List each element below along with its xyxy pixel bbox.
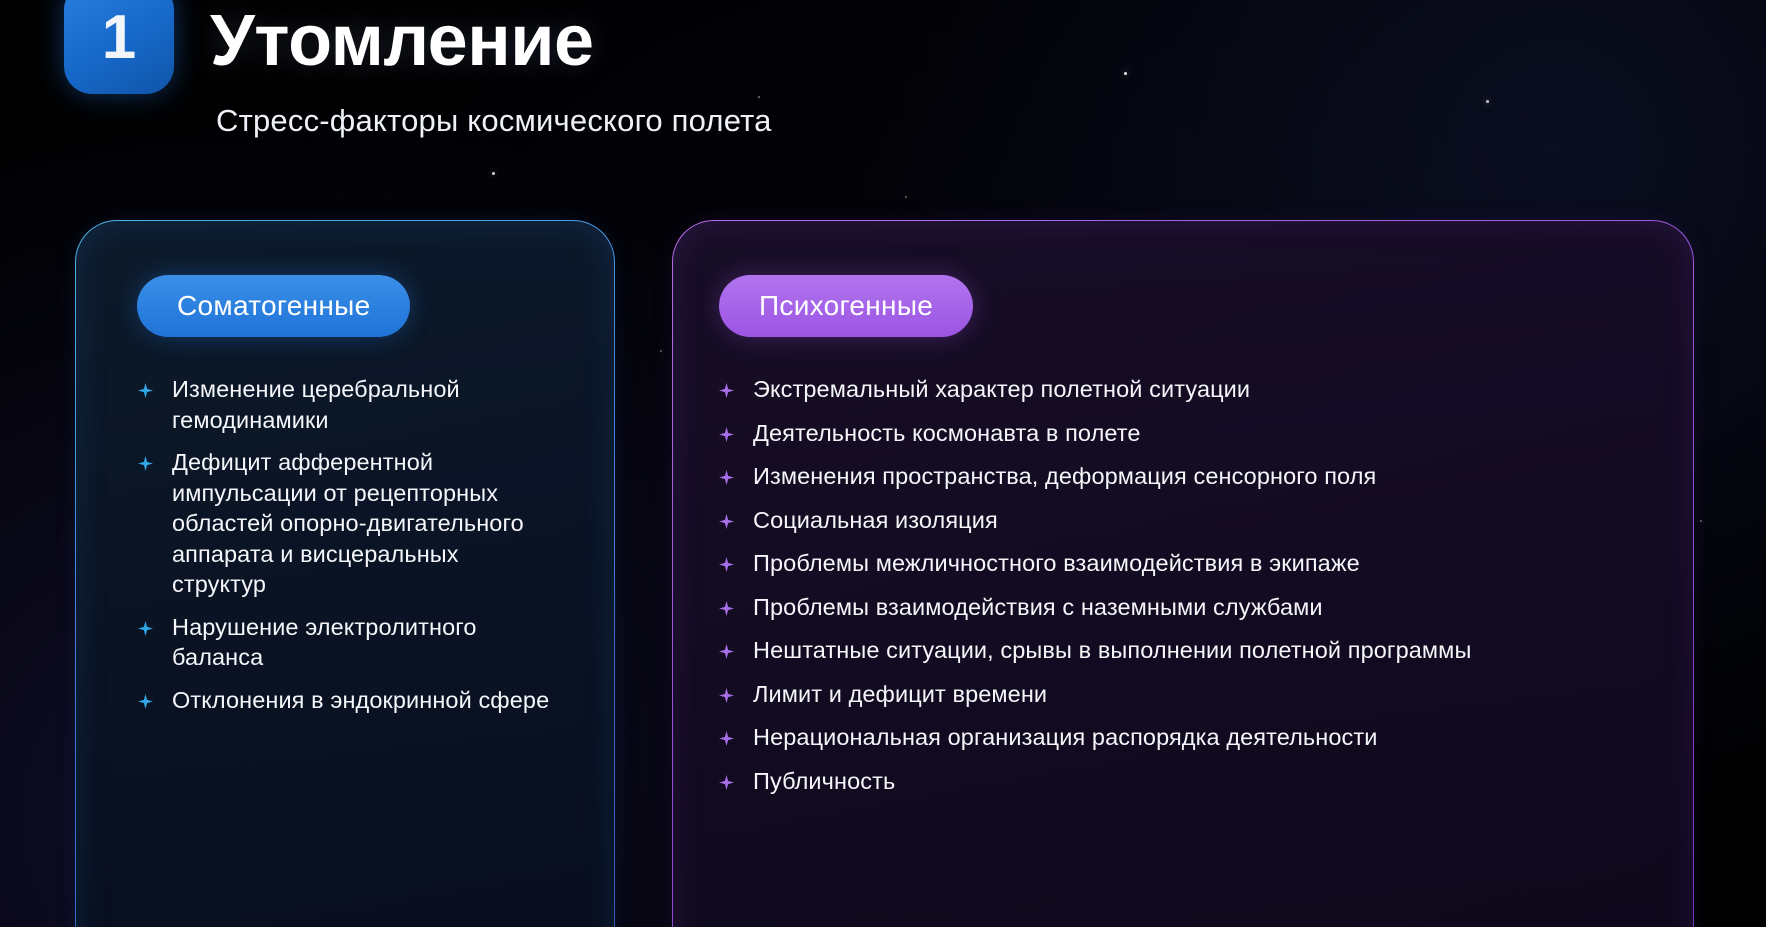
bullet-item: Нештатные ситуации, срывы в выполнении п…	[719, 635, 1674, 666]
bullet-item: Проблемы взаимодействия с наземными служ…	[719, 592, 1674, 623]
pill-somatogenic: Соматогенные	[137, 275, 410, 337]
bullet-item-label: Нарушение электролитного баланса	[172, 612, 558, 673]
star-dot	[1700, 520, 1702, 522]
bullet-item-label: Деятельность космонавта в полете	[753, 418, 1141, 449]
sparkle-bullet-icon	[719, 601, 734, 616]
sparkle-bullet-icon	[719, 731, 734, 746]
sparkle-bullet-icon	[719, 688, 734, 703]
bullet-item-label: Проблемы межличностного взаимодействия в…	[753, 548, 1360, 579]
bullet-item: Деятельность космонавта в полете	[719, 418, 1674, 449]
bullet-item-label: Публичность	[753, 766, 895, 797]
slide-canvas: 1 Утомление Стресс-факторы космического …	[0, 0, 1766, 927]
pill-psychogenic-label: Психогенные	[759, 290, 933, 322]
bullet-list-psychogenic: Экстремальный характер полетной ситуации…	[719, 374, 1674, 809]
bullet-item-label: Изменения пространства, деформация сенсо…	[753, 461, 1376, 492]
pill-psychogenic: Психогенные	[719, 275, 973, 337]
bullet-item-label: Нерациональная организация распорядка де…	[753, 722, 1377, 753]
bullet-item-label: Лимит и дефицит времени	[753, 679, 1047, 710]
card-somatogenic: Соматогенные Изменение церебральной гемо…	[75, 220, 615, 927]
bullet-item: Публичность	[719, 766, 1674, 797]
slide-number-badge: 1	[64, 0, 174, 94]
sparkle-bullet-icon	[719, 557, 734, 572]
bullet-item-label: Изменение церебральной гемодинамики	[172, 374, 558, 435]
page-title: Утомление	[210, 4, 594, 80]
sparkle-bullet-icon	[719, 514, 734, 529]
star-dot	[660, 350, 662, 352]
sparkle-bullet-icon	[138, 456, 153, 471]
sparkle-bullet-icon	[719, 427, 734, 442]
sparkle-bullet-icon	[719, 644, 734, 659]
bullet-item: Лимит и дефицит времени	[719, 679, 1674, 710]
bullet-item: Нерациональная организация распорядка де…	[719, 722, 1674, 753]
bullet-item-label: Отклонения в эндокринной сфере	[172, 685, 549, 716]
sparkle-bullet-icon	[719, 775, 734, 790]
bullet-item: Изменение церебральной гемодинамики	[138, 374, 558, 435]
bullet-item: Экстремальный характер полетной ситуации	[719, 374, 1674, 405]
bullet-item: Социальная изоляция	[719, 505, 1674, 536]
sparkle-bullet-icon	[719, 470, 734, 485]
star-dot	[905, 196, 907, 198]
sparkle-bullet-icon	[719, 383, 734, 398]
slide-number-label: 1	[102, 7, 136, 69]
bullet-item: Отклонения в эндокринной сфере	[138, 685, 558, 716]
bullet-item-label: Проблемы взаимодействия с наземными служ…	[753, 592, 1323, 623]
slide-header: 1 Утомление Стресс-факторы космического …	[0, 0, 1766, 160]
card-psychogenic: Психогенные Экстремальный характер полет…	[672, 220, 1694, 927]
sparkle-bullet-icon	[138, 621, 153, 636]
page-subtitle: Стресс-факторы космического полета	[216, 103, 772, 139]
sparkle-bullet-icon	[138, 694, 153, 709]
sparkle-bullet-icon	[138, 383, 153, 398]
bullet-list-somatogenic: Изменение церебральной гемодинамикиДефиц…	[138, 374, 558, 727]
bullet-item-label: Дефицит афферентной импульсации от рецеп…	[172, 447, 558, 600]
bullet-item: Дефицит афферентной импульсации от рецеп…	[138, 447, 558, 600]
bullet-item-label: Экстремальный характер полетной ситуации	[753, 374, 1250, 405]
bullet-item: Нарушение электролитного баланса	[138, 612, 558, 673]
pill-somatogenic-label: Соматогенные	[177, 290, 370, 322]
bullet-item-label: Нештатные ситуации, срывы в выполнении п…	[753, 635, 1471, 666]
bullet-item-label: Социальная изоляция	[753, 505, 998, 536]
bullet-item: Изменения пространства, деформация сенсо…	[719, 461, 1674, 492]
bullet-item: Проблемы межличностного взаимодействия в…	[719, 548, 1674, 579]
star-dot	[492, 172, 495, 175]
